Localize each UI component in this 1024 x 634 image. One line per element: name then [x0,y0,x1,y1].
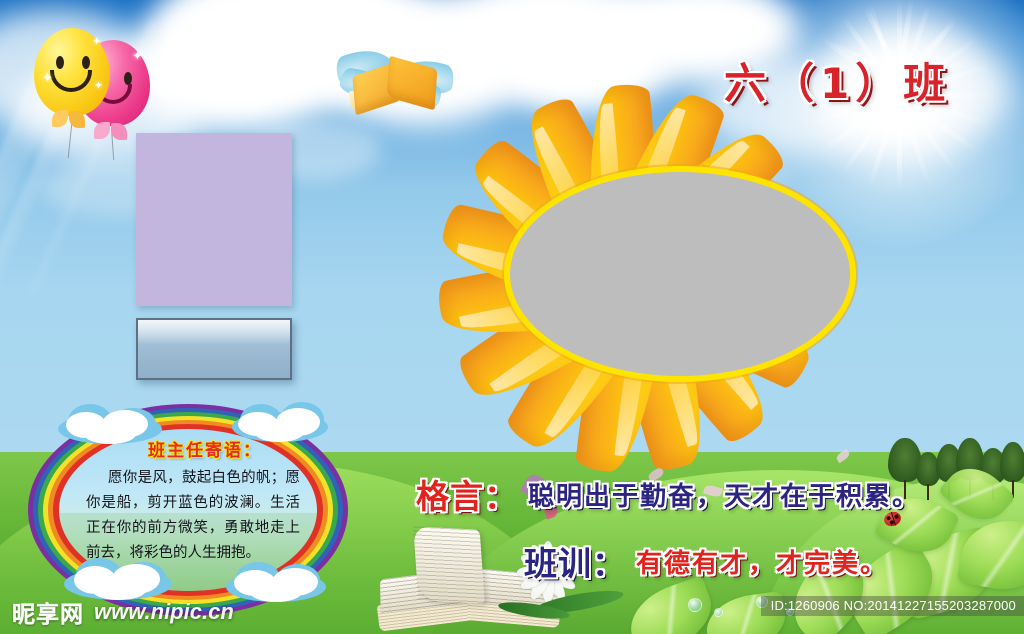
bow-pink-icon [94,122,128,140]
bow-yellow-icon [52,110,86,128]
bubble [714,608,723,617]
name-plate-placeholder[interactable] [136,318,292,380]
sunflower-photo-placeholder[interactable] [504,166,856,382]
page-title: 六（1）班 [724,50,951,111]
watermark-logo: 昵享网 [12,595,84,629]
motto-label: 格言： [416,470,518,518]
watermark-url: www.nipic.cn [94,599,234,625]
image-id-label: ID:1260906 NO:20141227155203287000 [761,596,1024,616]
cloud-decoration [58,404,162,446]
motto-text: 聪明出于勤奋，天才在于积累。 [528,476,920,513]
winged-book-icon [336,44,448,124]
creed-label: 班训： [524,537,626,585]
balloons-decoration: ✦ ✦ ✦ ✦ ✦ [18,22,148,157]
portrait-photo-placeholder[interactable] [136,133,292,306]
cloud-decoration [226,560,326,604]
creed-text: 有德有才，才完美。 [636,543,888,580]
smiley-balloon-yellow-icon: ✦ ✦ ✦ [34,28,110,116]
sunflower-photo-frame[interactable] [352,84,912,474]
classroom-poster: 六（1）班 ✦ ✦ ✦ ✦ ✦ [0,0,1024,634]
name-plate-gloss [138,320,290,344]
teacher-message-body: 愿你是风，鼓起白色的帆；愿你是船，剪开蓝色的波澜。生活正在你的前方微笑，勇敢地走… [86,466,300,566]
bubble [688,598,702,612]
teacher-message-heading: 班主任寄语： [148,436,262,461]
watermark: 昵享网 www.nipic.cn [12,598,234,626]
